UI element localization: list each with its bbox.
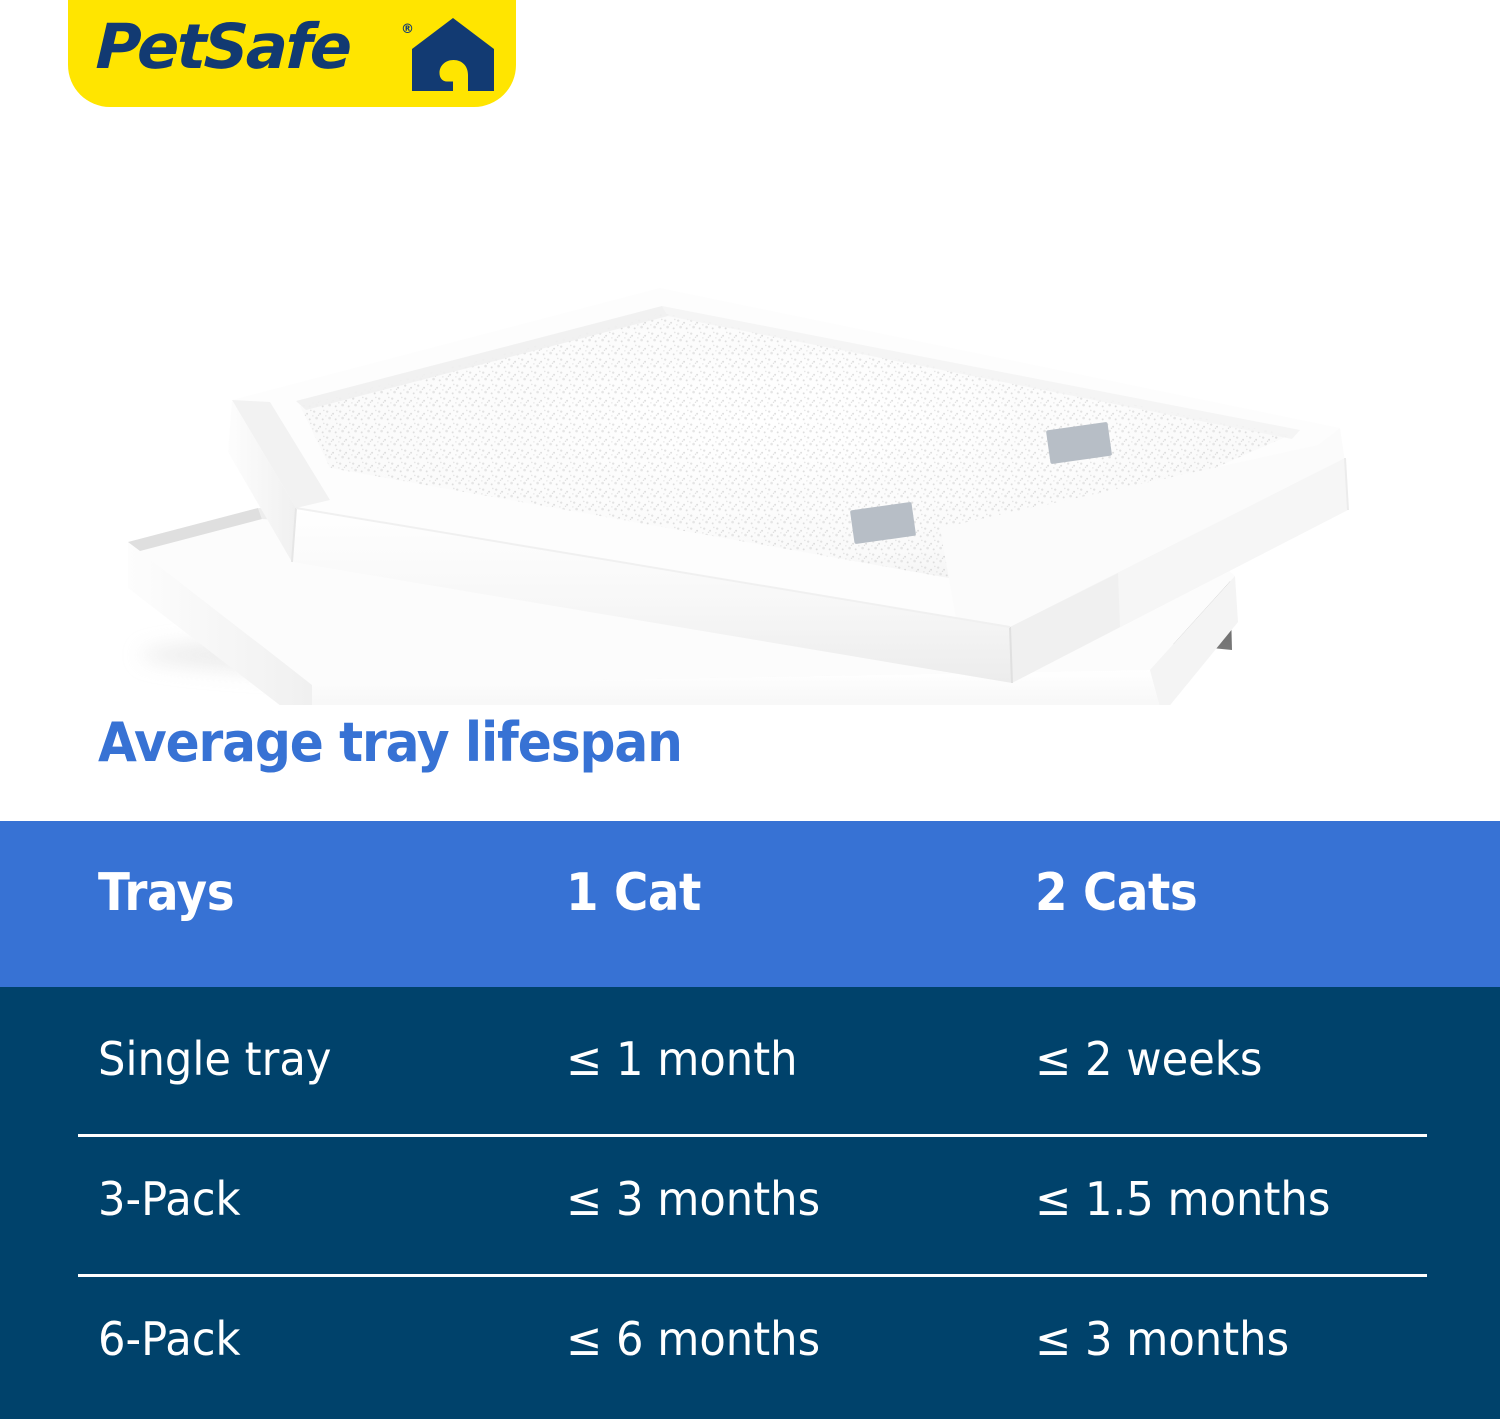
average-tray-lifespan-table: Trays 1 Cat 2 Cats Single tray ≤ 1 month… xyxy=(0,821,1500,1419)
column-header-one-cat: 1 Cat xyxy=(566,867,701,919)
column-header-two-cats: 2 Cats xyxy=(1035,867,1197,919)
page-title: Average tray lifespan xyxy=(98,716,682,770)
column-header-trays: Trays xyxy=(98,867,234,919)
table-row: 6-Pack ≤ 6 months ≤ 3 months xyxy=(0,987,1500,1419)
cell-trays: 6-Pack xyxy=(98,1316,241,1362)
table-body: Single tray ≤ 1 month ≤ 2 weeks 3-Pack ≤… xyxy=(0,987,1500,1419)
product-photo xyxy=(0,110,1500,705)
cell-two-cats: ≤ 3 months xyxy=(1035,1316,1289,1362)
petsafe-logo-badge: PetSafe ® xyxy=(68,0,516,107)
cell-one-cat: ≤ 6 months xyxy=(566,1316,820,1362)
house-with-pet-icon xyxy=(412,18,494,91)
litter-trays-illustration xyxy=(0,110,1500,705)
petsafe-wordmark: PetSafe xyxy=(95,16,351,78)
table-header-row: Trays 1 Cat 2 Cats xyxy=(0,821,1500,987)
